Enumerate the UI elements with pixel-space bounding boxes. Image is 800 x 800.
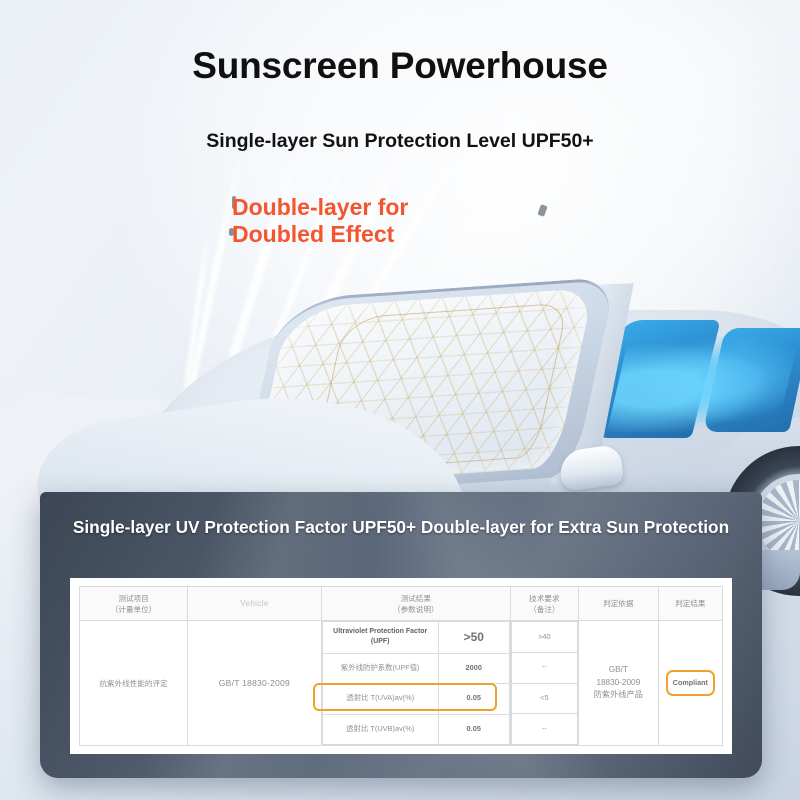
requirement-uva: <5 bbox=[511, 683, 577, 714]
th-test-result-l2: （参数说明） bbox=[323, 604, 509, 615]
cell-test-item: 抗紫外线性能的评定 bbox=[80, 621, 188, 746]
basis-line-1: GB/T bbox=[580, 664, 657, 677]
th-test-item: 测试项目 （计量单位） bbox=[80, 587, 188, 621]
cell-basis: GB/T 18830-2009 防紫外线产品 bbox=[578, 621, 658, 746]
page-title: Sunscreen Powerhouse bbox=[0, 45, 800, 87]
highlight-line-1: Double-layer for bbox=[232, 194, 408, 221]
highlight-line-2: Doubled Effect bbox=[232, 221, 408, 248]
requirement-row-upf: >40 bbox=[511, 622, 577, 653]
panel-banner-text: Single-layer UV Protection Factor UPF50+… bbox=[40, 517, 762, 538]
highlight-callout: Double-layer for Doubled Effect bbox=[232, 194, 408, 248]
result-label-upf-cn: 紫外线防护系数(UPF值) bbox=[322, 653, 438, 683]
result-row-upf-value: 紫外线防护系数(UPF值) 2000 bbox=[322, 653, 509, 683]
requirement-row-uva: <5 bbox=[511, 683, 577, 714]
th-test-result-l1: 测试结果 bbox=[323, 593, 509, 604]
page-subtitle: Single-layer Sun Protection Level UPF50+ bbox=[0, 130, 800, 153]
result-label-uva: 透射比 T(UVA)av(%) bbox=[322, 684, 438, 714]
basis-line-2: 18830-2009 bbox=[580, 677, 657, 690]
requirement-upf: >40 bbox=[511, 622, 577, 653]
requirement-upf-cn: -- bbox=[511, 652, 577, 683]
basis-line-3: 防紫外线产品 bbox=[580, 689, 657, 702]
result-row-uvb: 透射比 T(UVB)av(%) 0.05 bbox=[322, 714, 509, 744]
report-panel: Single-layer UV Protection Factor UPF50+… bbox=[40, 492, 762, 778]
requirements-subtable: >40 -- <5 -- bbox=[511, 621, 578, 745]
result-row-uva: 透射比 T(UVA)av(%) 0.05 bbox=[322, 684, 509, 714]
result-value-upf: >50 bbox=[438, 622, 509, 654]
requirement-row-uvb: -- bbox=[511, 714, 577, 745]
th-test-result: 测试结果 （参数说明） bbox=[321, 587, 510, 621]
result-row-upf: Ultraviolet Protection Factor (UPF) >50 bbox=[322, 622, 509, 654]
th-basis: 判定依据 bbox=[578, 587, 658, 621]
table-header-row: 测试项目 （计量单位） Vehicle 测试结果 （参数说明） 技术要求 （备注… bbox=[80, 587, 723, 621]
test-report-table: 测试项目 （计量单位） Vehicle 测试结果 （参数说明） 技术要求 （备注… bbox=[79, 586, 723, 746]
th-basis-label: 判定依据 bbox=[580, 598, 657, 609]
results-subtable: Ultraviolet Protection Factor (UPF) >50 … bbox=[322, 621, 510, 745]
cell-verdict: Compliant bbox=[658, 621, 722, 746]
compliant-badge: Compliant bbox=[666, 670, 715, 696]
table-body: 抗紫外线性能的评定 GB/T 18830-2009 Ultraviolet Pr… bbox=[80, 621, 723, 746]
th-requirement-l2: （备注） bbox=[512, 604, 577, 615]
result-label-uvb: 透射比 T(UVB)av(%) bbox=[322, 714, 438, 744]
th-requirement: 技术要求 （备注） bbox=[510, 587, 578, 621]
requirement-row-upf-cn: -- bbox=[511, 652, 577, 683]
table-header: 测试项目 （计量单位） Vehicle 测试结果 （参数说明） 技术要求 （备注… bbox=[80, 587, 723, 621]
result-value-uva: 0.05 bbox=[438, 684, 509, 714]
test-report-card: 测试项目 （计量单位） Vehicle 测试结果 （参数说明） 技术要求 （备注… bbox=[70, 578, 732, 754]
result-value-uvb: 0.05 bbox=[438, 714, 509, 744]
th-test-item-l1: 测试项目 bbox=[81, 593, 186, 604]
cell-standard: GB/T 18830-2009 bbox=[188, 621, 322, 746]
th-vehicle-label: Vehicle bbox=[189, 598, 320, 610]
cell-results-group: Ultraviolet Protection Factor (UPF) >50 … bbox=[321, 621, 510, 746]
th-requirement-l1: 技术要求 bbox=[512, 593, 577, 604]
th-test-item-l2: （计量单位） bbox=[81, 604, 186, 615]
th-vehicle: Vehicle bbox=[188, 587, 322, 621]
car-interior-seats bbox=[607, 336, 799, 432]
result-value-upf-cn: 2000 bbox=[438, 653, 509, 683]
requirement-uvb: -- bbox=[511, 714, 577, 745]
table-row: 抗紫外线性能的评定 GB/T 18830-2009 Ultraviolet Pr… bbox=[80, 621, 723, 746]
th-verdict: 判定结果 bbox=[658, 587, 722, 621]
result-label-upf: Ultraviolet Protection Factor (UPF) bbox=[322, 622, 438, 654]
th-verdict-label: 判定结果 bbox=[660, 598, 721, 609]
cell-requirements-group: >40 -- <5 -- bbox=[510, 621, 578, 746]
